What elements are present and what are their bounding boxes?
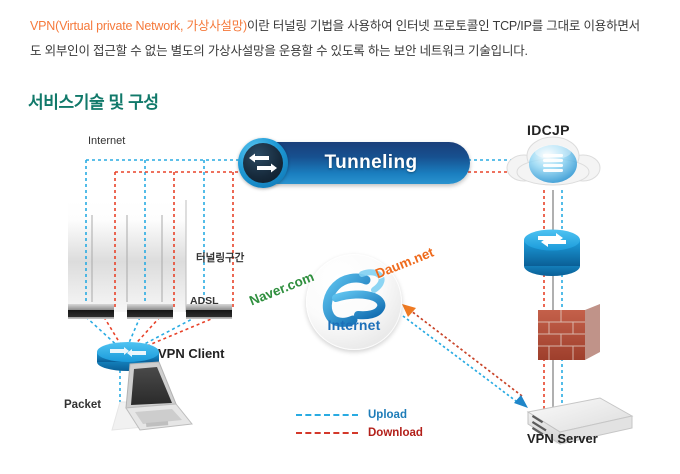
adsl-body [68,310,114,317]
intro-paragraph: VPN(Virtual private Network, 가상사설망)이란 터널… [30,14,645,64]
adsl-body [186,310,232,317]
section-title: 서비스기술 및 구성 [28,88,159,113]
tunneling-toggle-icon [238,138,288,188]
intro-highlight-term: VPN(Virtual private Network, 가상사설망) [30,19,247,33]
adsl-label: ADSL [190,295,219,307]
laptop-icon [112,362,192,430]
adsl-base [68,317,114,319]
tunneling-knob-inner [243,143,283,183]
internet-bus-label: Internet [88,135,125,147]
adsl-body [127,310,173,317]
download-arrowhead-globe [402,304,416,317]
vpn-server-label: VPN Server [527,431,598,446]
firewall-icon [538,304,600,360]
legend-download-label: Download [368,427,423,439]
idcjp-cloud-icon [507,137,600,185]
adsl-modem-2 [127,304,173,319]
globe-caption: Internet [306,317,402,333]
legend-item-download: Download [296,424,423,442]
legend: Upload Download [296,406,423,442]
packet-label: Packet [64,399,101,411]
legend-upload-label: Upload [368,409,407,421]
idcjp-label: IDCJP [527,122,570,138]
idc-vertical-lines [544,190,562,422]
bidirectional-arrows-icon [243,143,283,183]
adsl-base [186,317,232,319]
globe-server-links [403,307,522,404]
tunnel-zone-label: 터널링구간 [196,250,244,265]
upload-dash-swatch [296,414,358,416]
idc-router-icon [524,230,580,277]
download-dash-swatch [296,432,358,434]
vpn-client-label: VPN Client [158,346,224,361]
legend-item-upload: Upload [296,406,423,424]
upload-arrowhead-server [514,395,528,408]
adsl-modem-1 [68,304,114,319]
network-diagram: Tunneling Internet Internet IDC [0,112,680,474]
adsl-base [127,317,173,319]
